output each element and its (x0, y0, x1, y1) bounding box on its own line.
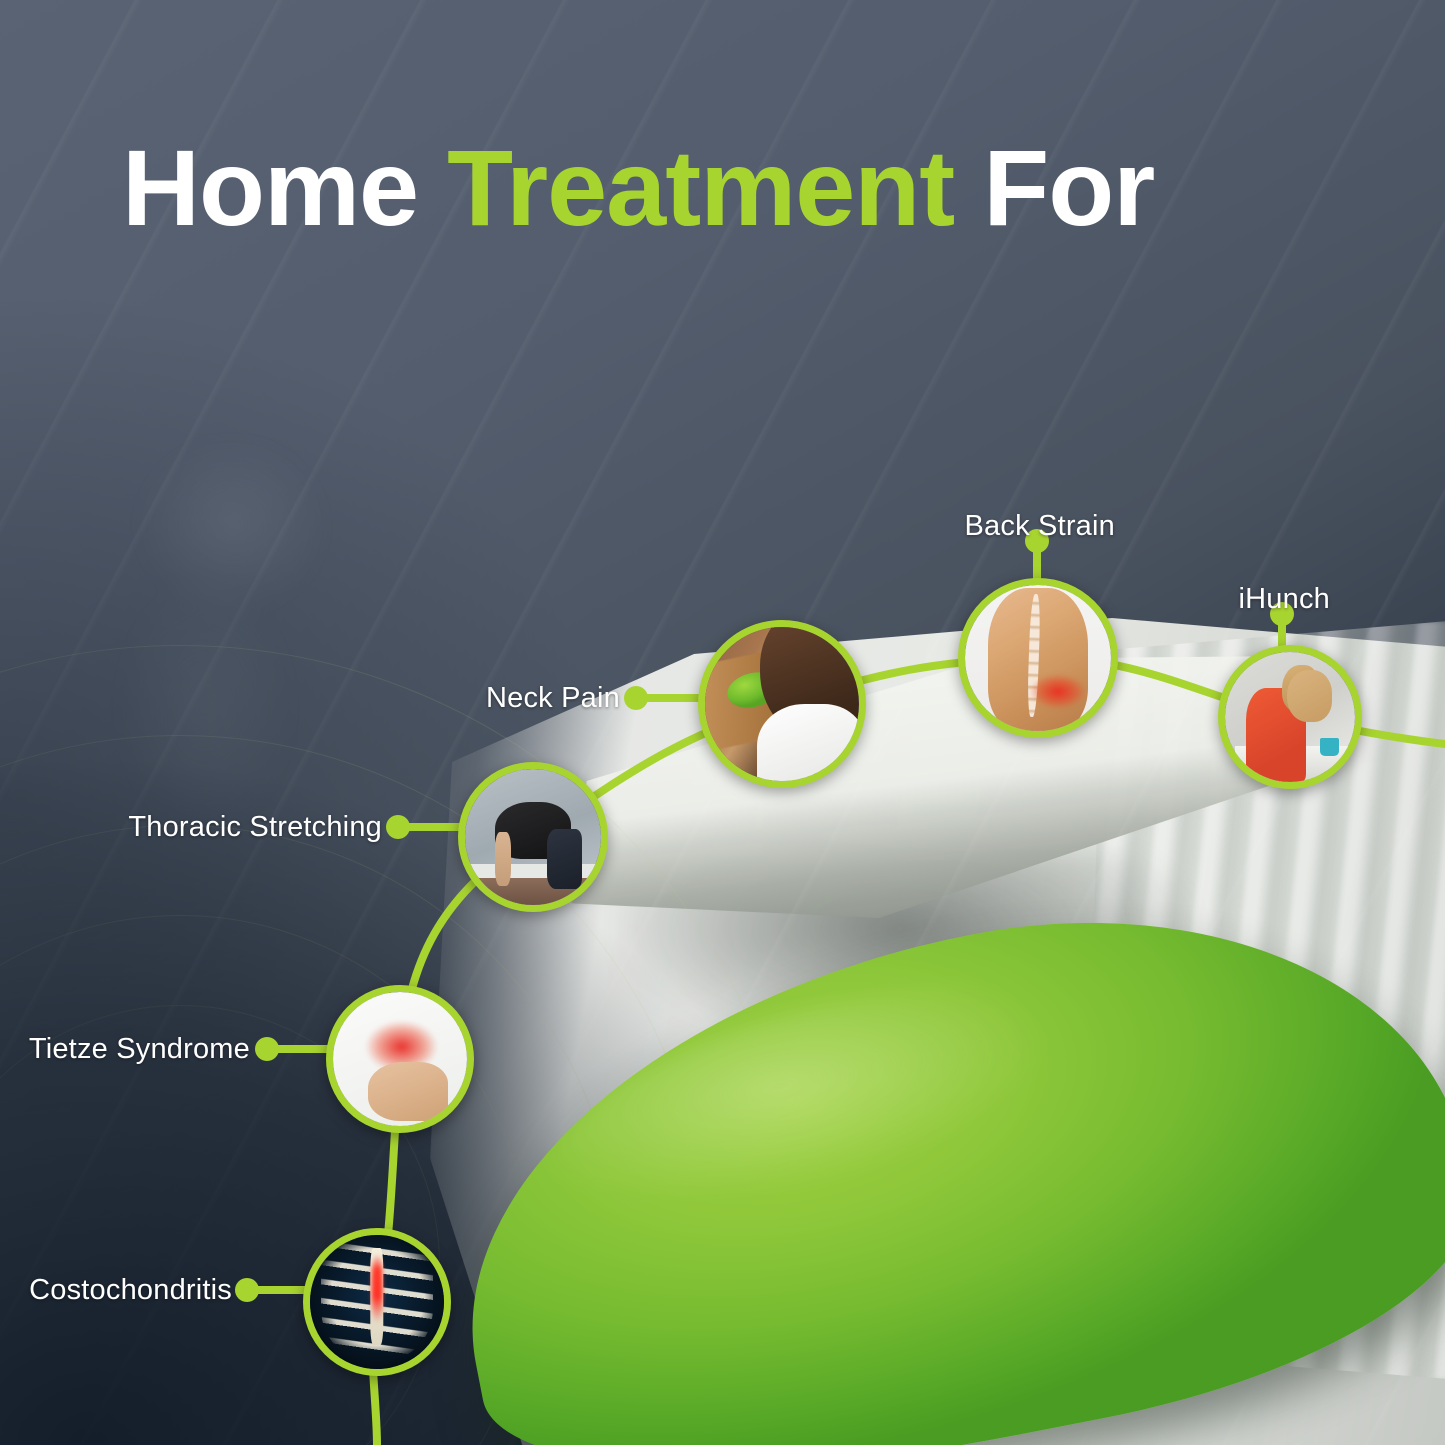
callout-node-ihunch[interactable] (1218, 645, 1362, 789)
callout-label-tietze-syndrome: Tietze Syndrome (29, 1033, 250, 1066)
callout-label-costochondritis: Costochondritis (29, 1274, 232, 1307)
title-part-2: For (954, 127, 1154, 248)
callout-label-ihunch: iHunch (1239, 583, 1330, 616)
photo-costochondritis (310, 1235, 444, 1369)
photo-ihunch (1225, 652, 1355, 782)
photo-thoracic-stretching (465, 769, 601, 905)
photo-neck-pain (705, 627, 859, 781)
callout-node-costochondritis[interactable] (303, 1228, 451, 1376)
ghost-figure-background (60, 440, 390, 870)
callout-label-thoracic-stretching: Thoracic Stretching (128, 811, 382, 844)
callout-label-back-strain: Back Strain (965, 510, 1116, 543)
callout-node-tietze-syndrome[interactable] (326, 985, 474, 1133)
photo-tietze-syndrome (333, 992, 467, 1126)
callout-node-back-strain[interactable] (958, 578, 1118, 738)
page-title: Home Treatment For (122, 128, 1154, 249)
title-accent-word: Treatment (447, 127, 954, 248)
title-part-1: Home (122, 127, 447, 248)
photo-back-strain (965, 585, 1111, 731)
infographic-canvas: Home Treatment For Neck Pain Back Strain (0, 0, 1445, 1445)
callout-node-neck-pain[interactable] (698, 620, 866, 788)
callout-label-neck-pain: Neck Pain (486, 682, 620, 715)
callout-node-thoracic-stretching[interactable] (458, 762, 608, 912)
